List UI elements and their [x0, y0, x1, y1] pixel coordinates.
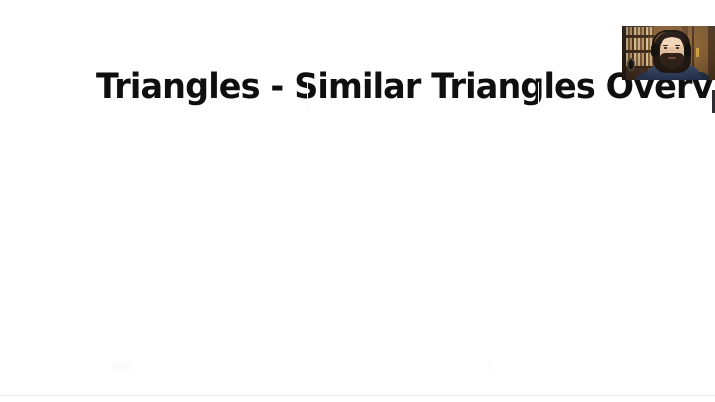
webcam-sheen — [622, 26, 715, 80]
presentation-screen: Triangles - Similar Triangles Overview — [0, 0, 715, 402]
presenter-webcam[interactable] — [622, 26, 715, 80]
slide-faint-mark-left — [113, 362, 130, 370]
slide-guide-line-right — [538, 82, 539, 112]
slide-guide-line-left — [307, 82, 308, 112]
slide-canvas[interactable]: Triangles - Similar Triangles Overview — [0, 0, 715, 396]
bottom-strip — [0, 396, 715, 402]
webcam-video-feed — [622, 26, 715, 80]
slide-body-content — [96, 100, 596, 360]
slide-faint-mark-right — [489, 362, 492, 371]
